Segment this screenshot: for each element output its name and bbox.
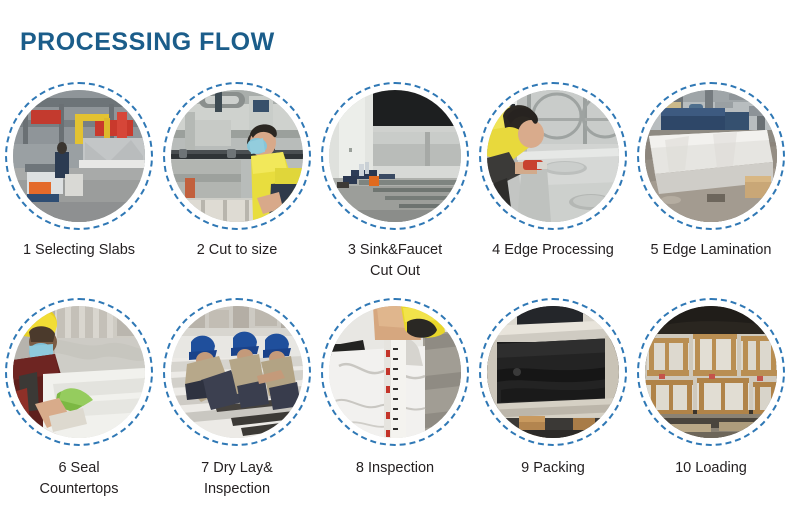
step-8-caption-line1: 8 Inspection	[312, 458, 478, 479]
step-9-image-frame	[479, 298, 627, 446]
step-6-dashed-ring	[5, 298, 153, 446]
step-7-caption-line1: 7 Dry Lay&	[154, 458, 320, 479]
step-8-image-frame	[321, 298, 469, 446]
process-step-5[interactable]: 5 Edge Lamination	[632, 82, 790, 282]
step-3-image-frame	[321, 82, 469, 230]
step-6-image-frame	[5, 298, 153, 446]
step-2-caption: 2 Cut to size	[154, 240, 320, 261]
step-1-dashed-ring	[5, 82, 153, 230]
step-3-caption-line2: Cut Out	[312, 261, 478, 282]
step-9-dashed-ring	[479, 298, 627, 446]
process-step-10[interactable]: 10 Loading	[632, 298, 790, 500]
step-7-caption-line2: Inspection	[154, 479, 320, 500]
step-3-caption-line1: 3 Sink&Faucet	[312, 240, 478, 261]
step-7-dashed-ring	[163, 298, 311, 446]
process-step-1[interactable]: 1 Selecting Slabs	[0, 82, 158, 282]
step-5-image-frame	[637, 82, 785, 230]
process-step-7[interactable]: 7 Dry Lay& Inspection	[158, 298, 316, 500]
step-1-caption-line1: 1 Selecting Slabs	[0, 240, 162, 261]
step-9-caption: 9 Packing	[470, 458, 636, 479]
step-2-dashed-ring	[163, 82, 311, 230]
step-6-caption: 6 Seal Countertops	[0, 458, 162, 500]
step-3-caption: 3 Sink&Faucet Cut Out	[312, 240, 478, 282]
step-4-caption-line1: 4 Edge Processing	[470, 240, 636, 261]
step-1-image-frame	[5, 82, 153, 230]
process-step-2[interactable]: 2 Cut to size	[158, 82, 316, 282]
step-4-caption: 4 Edge Processing	[470, 240, 636, 261]
process-row-top: 1 Selecting Slabs	[0, 82, 790, 282]
step-5-dashed-ring	[637, 82, 785, 230]
step-10-caption: 10 Loading	[628, 458, 790, 479]
step-6-caption-line2: Countertops	[0, 479, 162, 500]
process-step-8[interactable]: 8 Inspection	[316, 298, 474, 500]
step-10-image-frame	[637, 298, 785, 446]
step-9-caption-line1: 9 Packing	[470, 458, 636, 479]
step-2-image-frame	[163, 82, 311, 230]
step-1-caption: 1 Selecting Slabs	[0, 240, 162, 261]
step-2-caption-line1: 2 Cut to size	[154, 240, 320, 261]
step-4-dashed-ring	[479, 82, 627, 230]
step-5-caption-line1: 5 Edge Lamination	[628, 240, 790, 261]
step-10-dashed-ring	[637, 298, 785, 446]
step-6-caption-line1: 6 Seal	[0, 458, 162, 479]
process-step-6[interactable]: 6 Seal Countertops	[0, 298, 158, 500]
step-5-caption: 5 Edge Lamination	[628, 240, 790, 261]
process-step-4[interactable]: 4 Edge Processing	[474, 82, 632, 282]
process-row-bottom: 6 Seal Countertops	[0, 298, 790, 500]
step-10-caption-line1: 10 Loading	[628, 458, 790, 479]
processing-flow-page: PROCESSING FLOW	[0, 0, 790, 520]
step-7-image-frame	[163, 298, 311, 446]
step-7-caption: 7 Dry Lay& Inspection	[154, 458, 320, 500]
process-step-3[interactable]: 3 Sink&Faucet Cut Out	[316, 82, 474, 282]
page-title: PROCESSING FLOW	[20, 28, 275, 57]
step-4-image-frame	[479, 82, 627, 230]
process-step-9[interactable]: 9 Packing	[474, 298, 632, 500]
step-8-caption: 8 Inspection	[312, 458, 478, 479]
step-8-dashed-ring	[321, 298, 469, 446]
step-3-dashed-ring	[321, 82, 469, 230]
